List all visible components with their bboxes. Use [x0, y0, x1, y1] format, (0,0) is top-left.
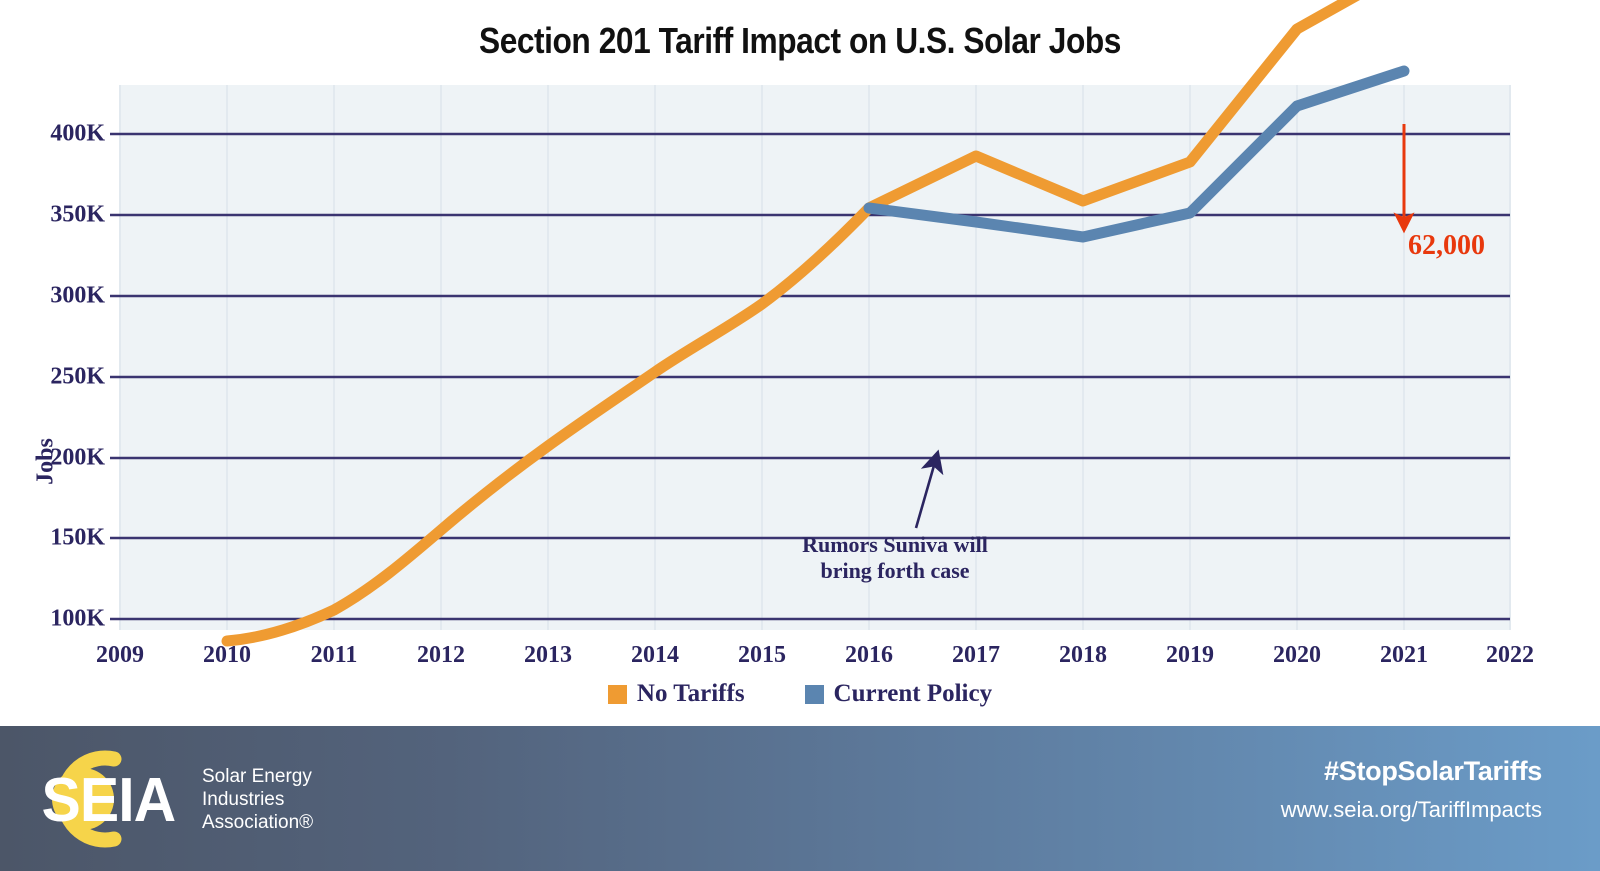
campaign-hashtag: #StopSolarTariffs [1281, 756, 1542, 787]
x-tick-label: 2011 [279, 642, 389, 669]
x-tick-label: 2012 [386, 642, 496, 669]
legend-swatch-icon [805, 685, 824, 704]
seia-wordmark-line-1: Solar Energy [202, 765, 313, 788]
legend-swatch-icon [608, 685, 627, 704]
x-tick-label: 2009 [65, 642, 175, 669]
seia-logo: SEIA Solar Energy Industries Association… [26, 749, 313, 849]
legend-label: Current Policy [834, 680, 993, 708]
legend-label: No Tariffs [637, 680, 745, 708]
seia-logo-initials: SEIA [42, 765, 176, 836]
x-tick-label: 2022 [1455, 642, 1565, 669]
footer-campaign: #StopSolarTariffs www.seia.org/TariffImp… [1281, 756, 1542, 823]
seia-wordmark-line-2: Industries [202, 788, 313, 811]
y-tick-label: 400K [5, 121, 105, 148]
x-tick-label: 2014 [600, 642, 710, 669]
legend-item-no-tariffs[interactable]: No Tariffs [608, 680, 745, 708]
legend-item-current-policy[interactable]: Current Policy [805, 680, 993, 708]
y-tick-label: 100K [5, 606, 105, 633]
x-tick-label: 2018 [1028, 642, 1138, 669]
chart-legend: No Tariffs Current Policy [0, 680, 1600, 708]
series-line-current-policy [869, 71, 1404, 237]
x-tick-label: 2017 [921, 642, 1031, 669]
x-tick-label: 2021 [1349, 642, 1459, 669]
footer-banner: SEIA Solar Energy Industries Association… [0, 726, 1600, 871]
x-tick-label: 2020 [1242, 642, 1352, 669]
x-tick-label: 2010 [172, 642, 282, 669]
y-tick-label: 150K [5, 525, 105, 552]
y-tick-label: 350K [5, 202, 105, 229]
x-tick-label: 2019 [1135, 642, 1245, 669]
delta-annotation-label: 62,000 [1408, 230, 1485, 262]
chart-svg [0, 80, 1600, 720]
x-tick-label: 2015 [707, 642, 817, 669]
suniva-annotation-label: Rumors Suniva will bring forth case [800, 532, 990, 584]
seia-wordmark-line-3: Association® [202, 811, 313, 834]
x-tick-label: 2016 [814, 642, 924, 669]
seia-logo-wordmark: Solar Energy Industries Association® [202, 765, 313, 834]
x-tick-label: 2013 [493, 642, 603, 669]
y-tick-label: 250K [5, 364, 105, 391]
y-tick-label: 300K [5, 283, 105, 310]
y-axis-title: Jobs [33, 402, 60, 522]
suniva-annotation-arrow [916, 462, 935, 528]
campaign-url[interactable]: www.seia.org/TariffImpacts [1281, 797, 1542, 823]
chart-container: 400K 350K 300K 250K 200K 150K 100K Jobs … [0, 80, 1600, 720]
seia-logo-mark: SEIA [26, 749, 186, 849]
